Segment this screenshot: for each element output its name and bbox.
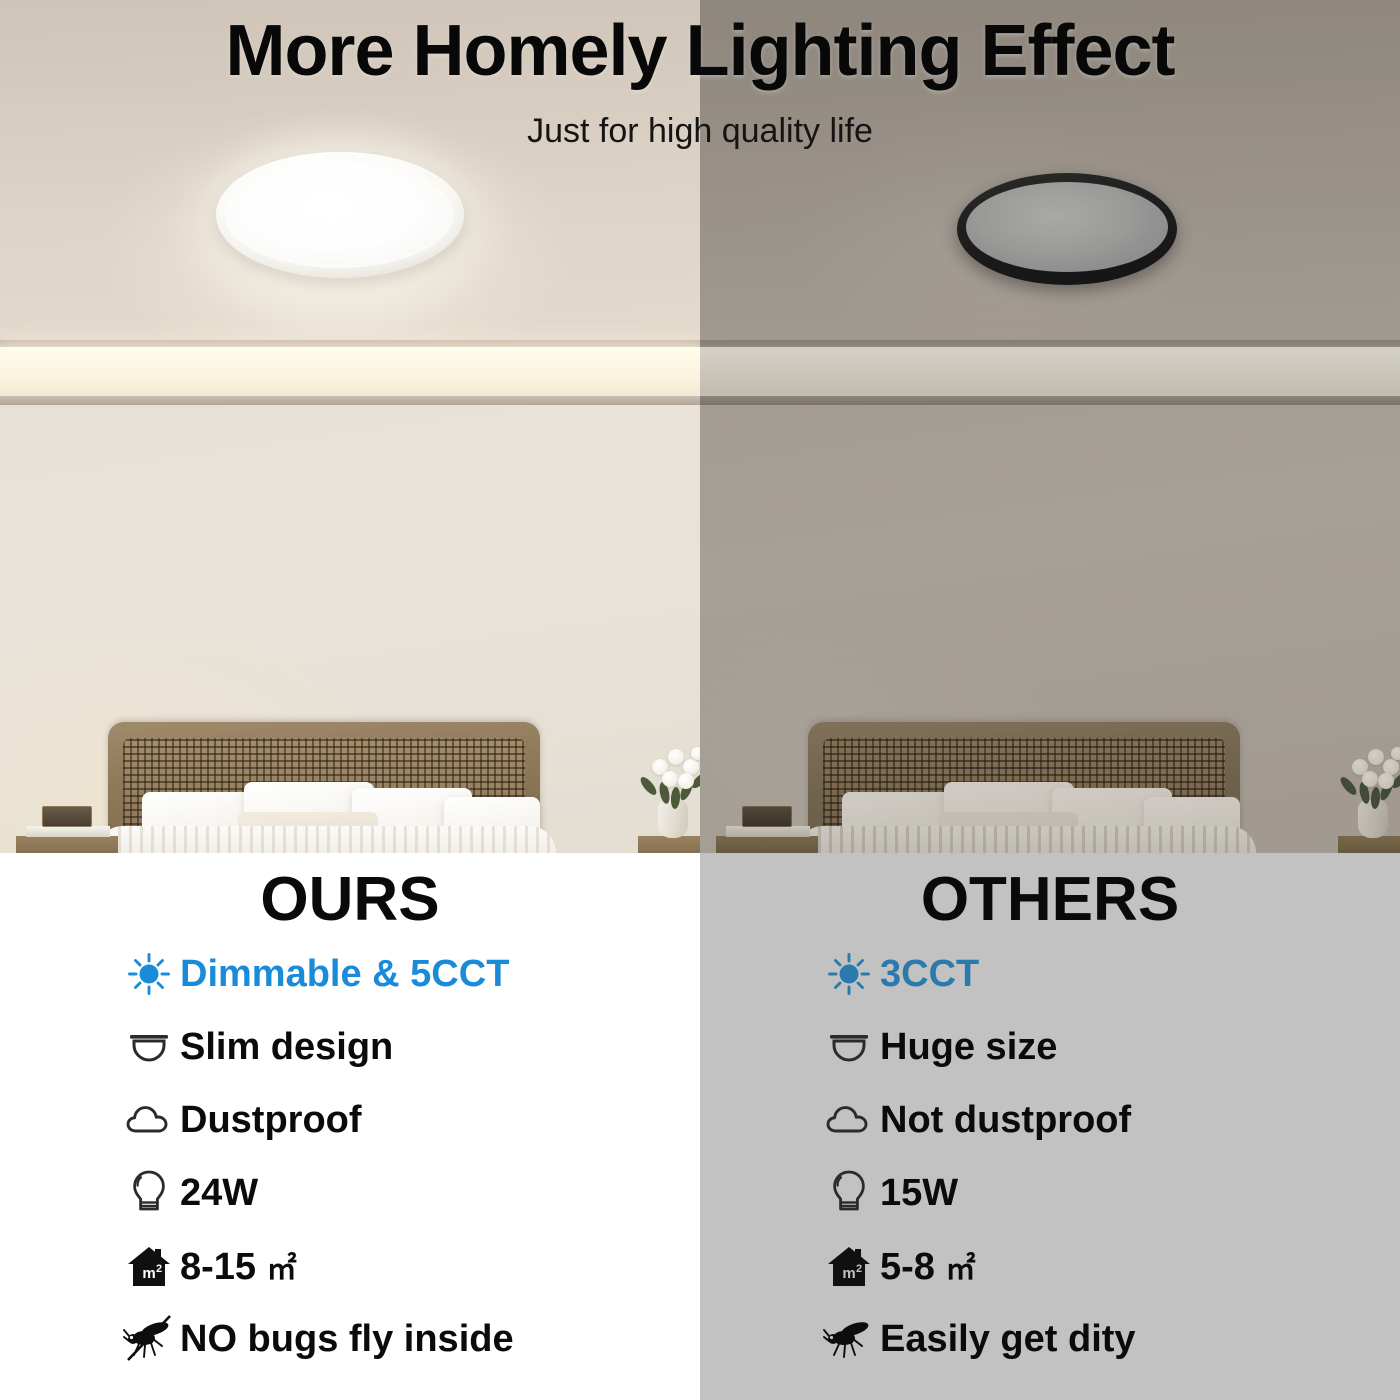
rose-bouquet <box>1338 735 1400 805</box>
promo-image: More Homely Lighting Effect Just for hig… <box>0 0 1400 1400</box>
svg-text:2: 2 <box>156 1263 162 1275</box>
feature-label: Dustproof <box>180 1099 362 1142</box>
feature-list-others: 3CCT Huge size <box>700 938 1400 1376</box>
duvet-cover <box>96 826 556 853</box>
page-subtitle: Just for high quality life <box>0 112 1400 151</box>
house-m2-icon: m 2 <box>118 1242 180 1290</box>
feature-label: 15W <box>880 1172 958 1215</box>
feature-label: Not dustproof <box>880 1099 1131 1142</box>
feature-row-wattage: 15W <box>700 1157 1400 1230</box>
feature-row-dimmable: Dimmable & 5CCT <box>0 938 700 1011</box>
house-m2-icon: m 2 <box>818 1242 880 1290</box>
feature-row-dustproof: Dustproof <box>0 1084 700 1157</box>
cove-light-band <box>0 347 700 398</box>
panel-ours: OURS <box>0 853 700 1400</box>
feature-row-coverage: m 2 5-8 ㎡ <box>700 1230 1400 1303</box>
feature-row-cct: 3CCT <box>700 938 1400 1011</box>
ceiling-light-lens-lit <box>225 162 453 268</box>
book-stack <box>26 826 110 837</box>
feature-row-gets-dirty: Easily get dity <box>700 1303 1400 1376</box>
panel-others: OTHERS <box>700 853 1400 1400</box>
feature-label: Huge size <box>880 1026 1057 1069</box>
nightstand-right <box>638 836 700 853</box>
svg-text:m: m <box>842 1265 855 1282</box>
feature-label: NO bugs fly inside <box>180 1318 514 1361</box>
feature-row-no-bugs: NO bugs fly inside <box>0 1303 700 1376</box>
speaker-icon <box>742 806 792 827</box>
feature-row-coverage: m 2 8-15 ㎡ <box>0 1230 700 1303</box>
book-stack <box>726 826 810 837</box>
feature-comparison: OURS <box>0 853 1400 1400</box>
ceiling-light-lens-unlit <box>966 182 1168 272</box>
bug-icon <box>818 1314 880 1364</box>
feature-label: 3CCT <box>880 953 979 996</box>
area-unit: ㎡ <box>267 1253 297 1286</box>
page-title: More Homely Lighting Effect <box>0 10 1400 92</box>
feature-list-ours: Dimmable & 5CCT Slim design <box>0 938 700 1376</box>
bulb-icon <box>818 1168 880 1218</box>
speaker-icon <box>42 806 92 827</box>
rose-bouquet <box>638 735 700 805</box>
feature-label: Dimmable & 5CCT <box>180 953 509 996</box>
feature-label: 24W <box>180 1172 258 1215</box>
sun-icon <box>818 950 880 998</box>
nightstand-right <box>1338 836 1400 853</box>
dome-icon <box>118 1025 180 1069</box>
feature-row-slim-design: Slim design <box>0 1011 700 1084</box>
no-bug-icon <box>118 1314 180 1364</box>
feature-label: 8-15 ㎡ <box>180 1244 297 1289</box>
svg-text:m: m <box>142 1265 155 1282</box>
sun-icon <box>118 950 180 998</box>
feature-label: Easily get dity <box>880 1318 1136 1361</box>
area-unit: ㎡ <box>945 1253 975 1286</box>
svg-text:2: 2 <box>856 1263 862 1275</box>
nightstand-left <box>716 836 818 853</box>
feature-row-huge-size: Huge size <box>700 1011 1400 1084</box>
feature-row-not-dustproof: Not dustproof <box>700 1084 1400 1157</box>
cove-light-band <box>700 347 1400 398</box>
panel-heading-ours: OURS <box>0 853 700 934</box>
cloud-icon <box>118 1099 180 1141</box>
feature-label: Slim design <box>180 1026 393 1069</box>
feature-label: 5-8 ㎡ <box>880 1244 975 1289</box>
bulb-icon <box>118 1168 180 1218</box>
panel-heading-others: OTHERS <box>700 853 1400 934</box>
nightstand-left <box>16 836 118 853</box>
duvet-cover <box>796 826 1256 853</box>
dome-icon <box>818 1025 880 1069</box>
cloud-icon <box>818 1099 880 1141</box>
feature-row-wattage: 24W <box>0 1157 700 1230</box>
